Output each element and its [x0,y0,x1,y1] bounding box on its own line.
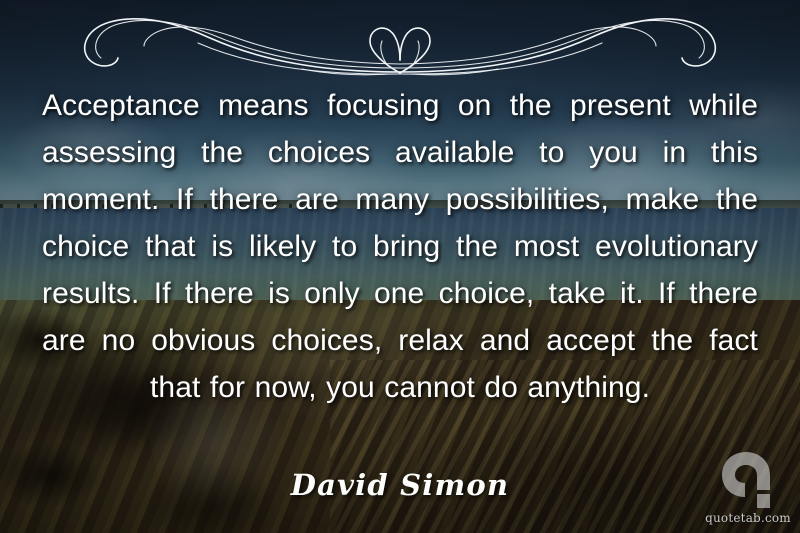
card-content: Acceptance means focusing on the present… [0,0,800,533]
watermark-site-label: quotetab.com [705,511,791,525]
quote-author: David Simon [0,468,800,502]
quote-text: Acceptance means focusing on the present… [42,82,758,411]
quote-image-card: Acceptance means focusing on the present… [0,0,800,533]
watermark[interactable]: quotetab.com [706,450,790,525]
decorative-flourish-divider-icon [70,8,730,78]
quotetab-q-logo-icon [720,450,776,510]
